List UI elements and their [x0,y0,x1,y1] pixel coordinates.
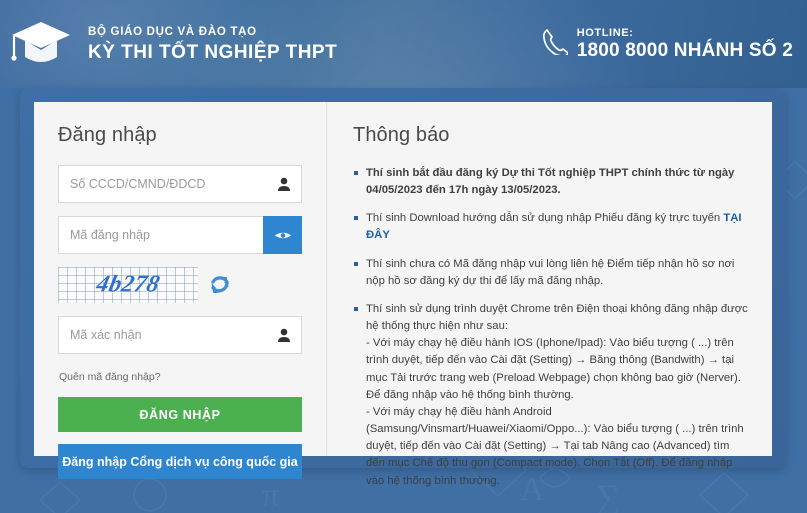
hotline: HOTLINE: 1800 8000 NHÁNH SỐ 2 [542,27,793,62]
notices-panel: Thông báo Thí sinh bắt đầu đăng ký Dự th… [327,102,772,456]
main-card: Đăng nhập [34,102,772,456]
code-field-wrapper [58,216,302,254]
notice-text: Thí sinh sử dụng trình duyệt Chrome trên… [366,303,748,332]
notice-item: Thí sinh chưa có Mã đăng nhập vui lòng l… [353,256,748,290]
notice-subline: - Với máy chạy hệ điều hành IOS (Iphone/… [366,335,748,404]
site-header: BỘ GIÁO DỤC VÀ ĐÀO TẠO KỲ THI TỐT NGHIỆP… [0,0,807,88]
login-title: Đăng nhập [58,124,302,147]
verify-input[interactable] [58,316,302,354]
ministry-title: BỘ GIÁO DỤC VÀ ĐÀO TẠO [88,26,337,39]
hotline-label: HOTLINE: [577,27,793,39]
notice-subline: - Với máy chạy hệ điều hành Android (Sam… [366,404,748,490]
notice-text: Thí sinh Download hướng dẫn sử dụng nhập… [366,212,723,224]
login-panel: Đăng nhập [34,102,327,456]
main-card-frame: Đăng nhập [20,88,786,468]
hotline-number: 1800 8000 NHÁNH SỐ 2 [577,41,793,62]
eye-icon[interactable] [263,216,302,254]
notices-title: Thông báo [353,124,748,147]
svg-text:π: π [262,477,279,513]
notices-list: Thí sinh bắt đầu đăng ký Dự thi Tốt nghi… [353,165,748,490]
captcha-image: 4b278 [58,267,198,303]
id-input[interactable] [58,165,302,203]
login-button[interactable]: ĐĂNG NHẬP [58,397,302,432]
national-portal-login-button[interactable]: Đăng nhập Cổng dịch vụ công quốc gia [58,444,302,479]
captcha-text: 4b278 [94,272,162,299]
phone-icon [542,27,568,60]
notice-item: Thí sinh Download hướng dẫn sử dụng nhập… [353,210,748,244]
graduation-cap-icon [8,13,74,75]
verify-field-wrapper [58,316,302,354]
id-field-wrapper [58,165,302,203]
notice-item: Thí sinh sử dụng trình duyệt Chrome trên… [353,301,748,490]
captcha-row: 4b278 [58,267,302,303]
notice-item: Thí sinh bắt đầu đăng ký Dự thi Tốt nghi… [353,165,748,199]
notice-text: Thí sinh bắt đầu đăng ký Dự thi Tốt nghi… [366,167,734,196]
forgot-code-link[interactable]: Quên mã đăng nhập? [59,371,161,383]
brand: BỘ GIÁO DỤC VÀ ĐÀO TẠO KỲ THI TỐT NGHIỆP… [8,13,337,75]
exam-title: KỲ THI TỐT NGHIỆP THPT [88,42,337,64]
notice-text: Thí sinh chưa có Mã đăng nhập vui lòng l… [366,258,734,287]
refresh-icon[interactable] [208,273,232,297]
